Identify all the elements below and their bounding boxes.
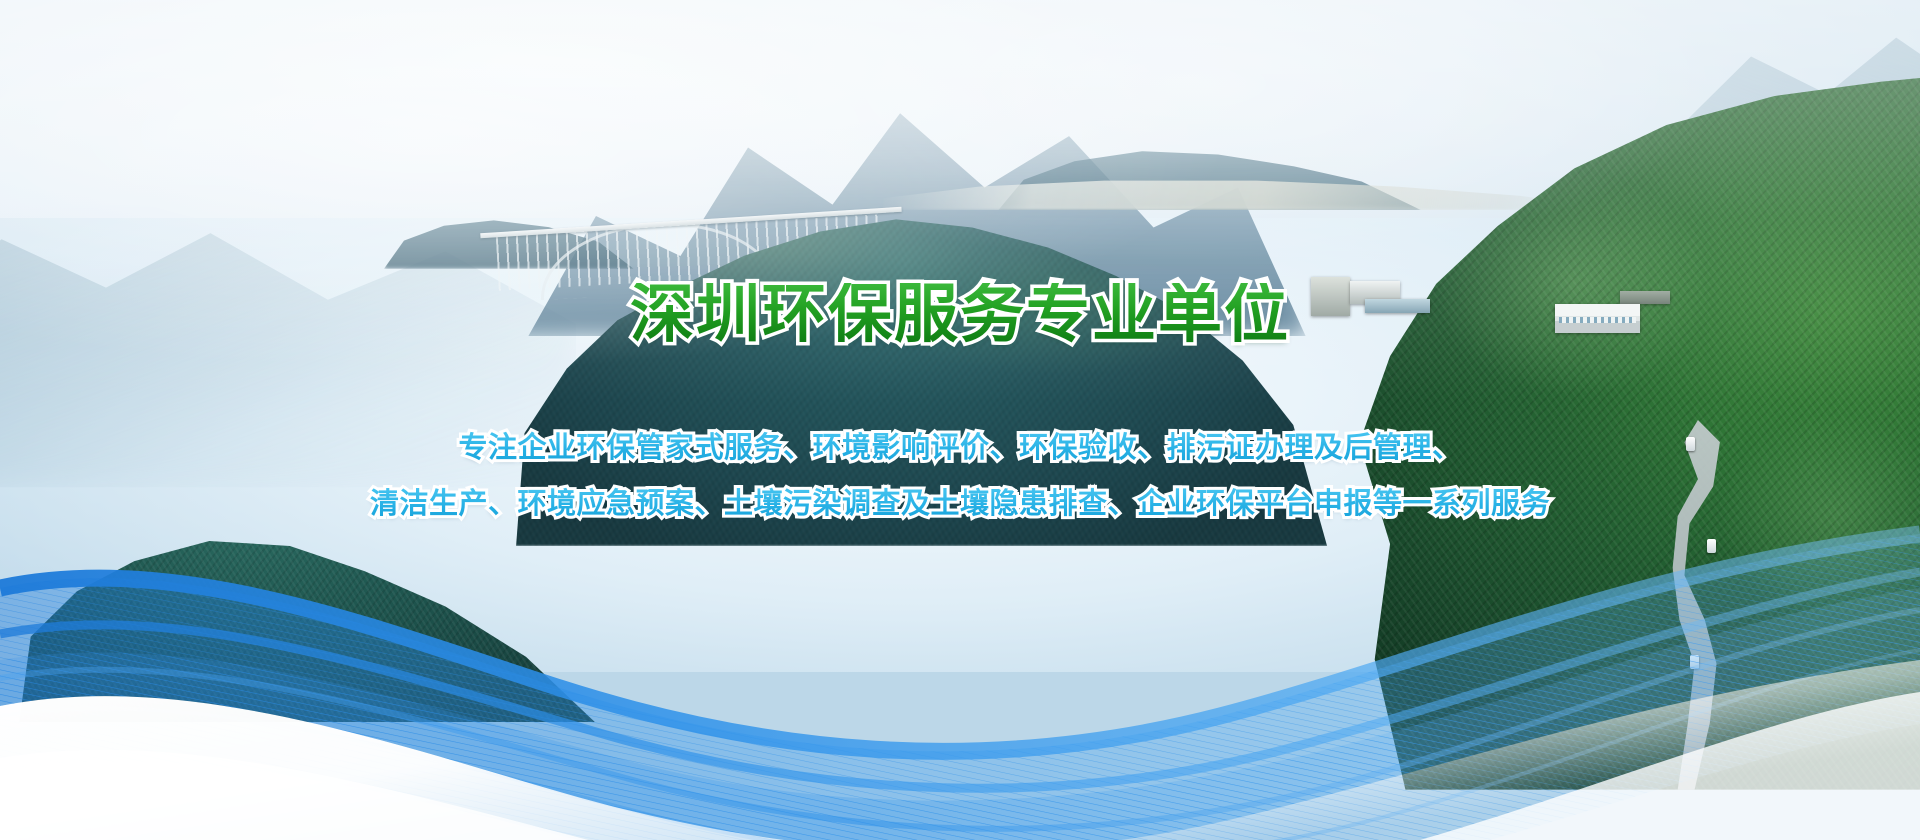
hillside-building-1 (1311, 277, 1349, 316)
hillside-building-5 (1620, 291, 1670, 304)
hero-banner: 深圳环保服务专业单位 深圳环保服务专业单位 专注企业环保管家式服务、环境影响评价… (0, 0, 1920, 840)
subtitle-line-2-text: 清洁生产、环境应急预案、土壤污染调查及土壤隐患排查、企业环保平台申报等一系列服务 (360, 484, 1560, 522)
car-icon-1 (1686, 437, 1695, 451)
hillside-building-4 (1555, 304, 1639, 333)
page-title: 深圳环保服务专业单位 (630, 283, 1290, 347)
car-icon-3 (1690, 655, 1699, 669)
background-photo (0, 0, 1920, 840)
subtitle-line-1-text: 专注企业环保管家式服务、环境影响评价、环保验收、排污证办理及后管理、 (360, 428, 1560, 466)
hillside-building-3 (1365, 299, 1430, 313)
car-icon-2 (1707, 539, 1716, 553)
